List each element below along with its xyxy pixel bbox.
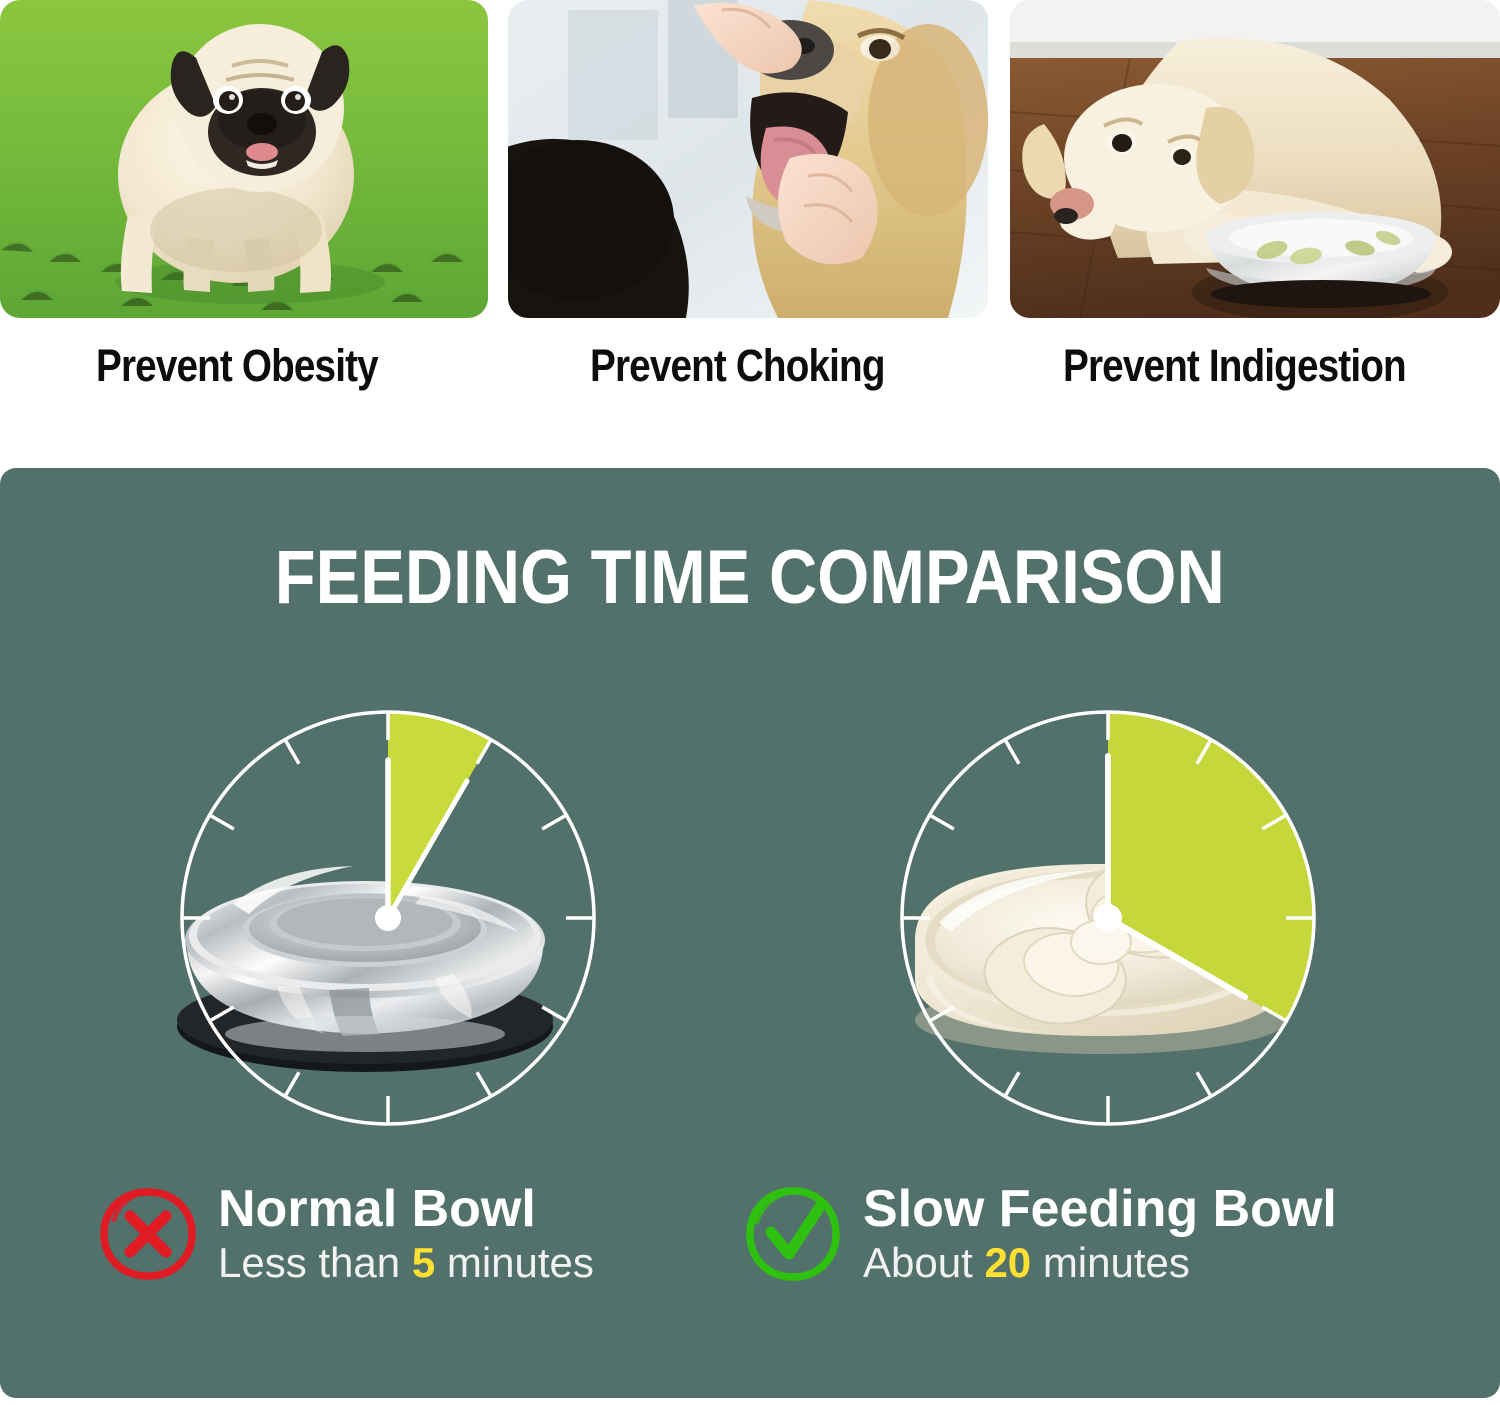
benefit-photo-obesity — [0, 0, 488, 318]
label-sub-prefix-normal: Less than — [218, 1239, 412, 1286]
cross-icon — [100, 1186, 196, 1282]
label-sub-suffix-normal: minutes — [435, 1239, 594, 1286]
label-sub-slow-bowl: About 20 minutes — [863, 1238, 1337, 1288]
panel-title-text: FEEDING TIME COMPARISON — [275, 540, 1225, 616]
label-sub-prefix-slow: About — [863, 1239, 984, 1286]
label-sub-normal-bowl: Less than 5 minutes — [218, 1238, 594, 1288]
label-sub-value-normal: 5 — [412, 1239, 435, 1286]
benefit-caption-row: Prevent Obesity Prevent Choking Prevent … — [0, 340, 1500, 420]
panel-title: FEEDING TIME COMPARISON — [0, 540, 1500, 616]
benefit-caption-choking: Prevent Choking — [590, 340, 885, 392]
stainless-steel-bowl-illustration — [177, 866, 553, 1072]
benefit-caption-obesity: Prevent Obesity — [96, 340, 378, 392]
benefit-photo-indigestion — [1010, 0, 1500, 318]
label-slow-feeding-bowl: Slow Feeding Bowl About 20 minutes — [745, 1180, 1337, 1320]
label-sub-value-slow: 20 — [984, 1239, 1031, 1286]
label-normal-bowl: Normal Bowl Less than 5 minutes — [100, 1180, 594, 1320]
check-icon — [745, 1186, 841, 1282]
benefit-photo-choking — [508, 0, 988, 318]
clock-dial-normal-bowl — [153, 690, 623, 1150]
label-sub-suffix-slow: minutes — [1031, 1239, 1190, 1286]
benefit-photo-strip — [0, 0, 1500, 330]
clock-dial-slow-feeding-bowl — [873, 690, 1343, 1150]
feeding-time-comparison-panel: FEEDING TIME COMPARISON — [0, 468, 1500, 1398]
label-title-normal-bowl: Normal Bowl — [218, 1180, 594, 1238]
label-title-slow-bowl: Slow Feeding Bowl — [863, 1180, 1337, 1238]
benefit-caption-indigestion: Prevent Indigestion — [1063, 340, 1406, 392]
